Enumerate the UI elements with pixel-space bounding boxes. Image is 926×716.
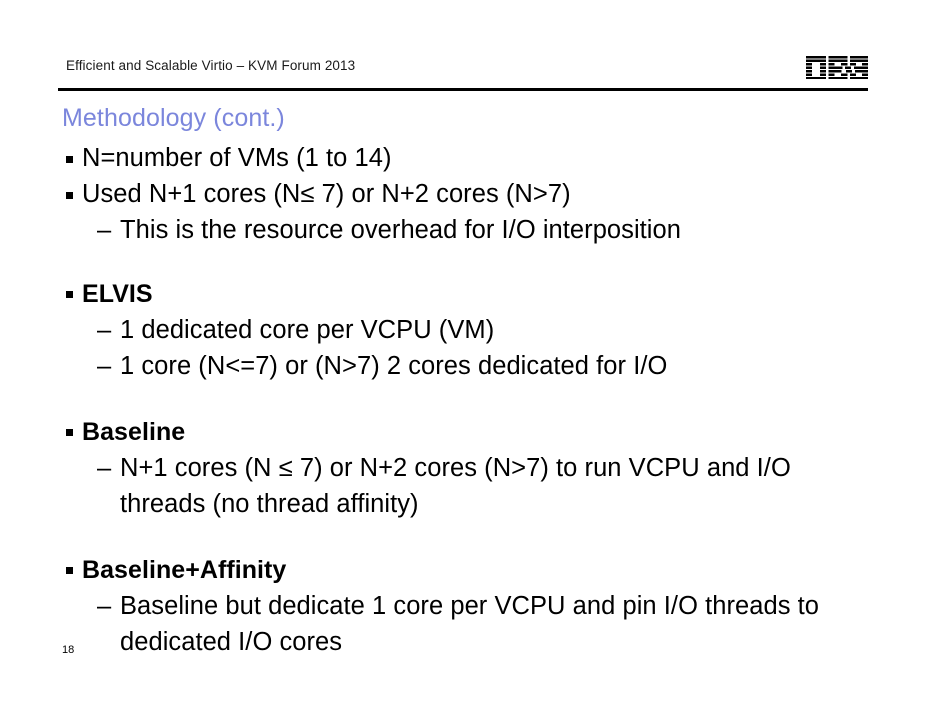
sub-bullet-text: This is the resource overhead for I/O in… bbox=[120, 216, 681, 244]
presentation-slide: Efficient and Scalable Virtio – KVM Foru… bbox=[0, 0, 926, 716]
square-bullet-icon bbox=[66, 156, 73, 163]
header-divider bbox=[58, 88, 868, 91]
sub-bullet-text: Baseline but dedicate 1 core per VCPU an… bbox=[120, 592, 819, 656]
bullet-item: Used N+1 cores (N≤ 7) or N+2 cores (N>7) bbox=[62, 176, 874, 212]
sub-bullet-item: – N+1 cores (N ≤ 7) or N+2 cores (N>7) t… bbox=[62, 450, 874, 522]
slide-page-number: 18 bbox=[62, 644, 74, 656]
spacer bbox=[62, 384, 874, 414]
square-bullet-icon bbox=[66, 291, 73, 298]
slide-body: N=number of VMs (1 to 14) Used N+1 cores… bbox=[62, 140, 874, 660]
bullet-item: N=number of VMs (1 to 14) bbox=[62, 140, 874, 176]
dash-bullet-icon: – bbox=[97, 348, 111, 384]
bullet-item-elvis: ELVIS bbox=[62, 276, 874, 312]
dash-bullet-icon: – bbox=[97, 212, 111, 248]
sub-bullet-text: 1 dedicated core per VCPU (VM) bbox=[120, 316, 494, 344]
sub-bullet-text: 1 core (N<=7) or (N>7) 2 cores dedicated… bbox=[120, 352, 667, 380]
square-bullet-icon bbox=[66, 567, 73, 574]
sub-bullet-text: N+1 cores (N ≤ 7) or N+2 cores (N>7) to … bbox=[120, 454, 791, 518]
page-title: Methodology (cont.) bbox=[62, 104, 285, 133]
header-title: Efficient and Scalable Virtio – KVM Foru… bbox=[66, 58, 355, 73]
sub-bullet-item: – Baseline but dedicate 1 core per VCPU … bbox=[62, 588, 874, 660]
square-bullet-icon bbox=[66, 429, 73, 436]
slide-header: Efficient and Scalable Virtio – KVM Foru… bbox=[58, 58, 868, 88]
bullet-text: Baseline bbox=[82, 418, 185, 446]
bullet-item-baseline-affinity: Baseline+Affinity bbox=[62, 552, 874, 588]
dash-bullet-icon: – bbox=[97, 450, 111, 486]
bullet-text: Baseline+Affinity bbox=[82, 556, 286, 584]
bullet-group-4: Baseline+Affinity – Baseline but dedicat… bbox=[62, 552, 874, 660]
bullet-group-1: N=number of VMs (1 to 14) Used N+1 cores… bbox=[62, 140, 874, 248]
sub-bullet-item: – This is the resource overhead for I/O … bbox=[62, 212, 874, 248]
bullet-text: Used N+1 cores (N≤ 7) or N+2 cores (N>7) bbox=[82, 180, 571, 208]
bullet-item-baseline: Baseline bbox=[62, 414, 874, 450]
spacer bbox=[62, 248, 874, 276]
bullet-group-2: ELVIS – 1 dedicated core per VCPU (VM) –… bbox=[62, 276, 874, 384]
dash-bullet-icon: – bbox=[97, 312, 111, 348]
bullet-text: ELVIS bbox=[82, 280, 153, 308]
bullet-text: N=number of VMs (1 to 14) bbox=[82, 144, 392, 172]
spacer bbox=[62, 522, 874, 552]
square-bullet-icon bbox=[66, 192, 73, 199]
dash-bullet-icon: – bbox=[97, 588, 111, 624]
sub-bullet-item: – 1 dedicated core per VCPU (VM) bbox=[62, 312, 874, 348]
ibm-logo-icon bbox=[806, 56, 868, 81]
bullet-group-3: Baseline – N+1 cores (N ≤ 7) or N+2 core… bbox=[62, 414, 874, 522]
sub-bullet-item: – 1 core (N<=7) or (N>7) 2 cores dedicat… bbox=[62, 348, 874, 384]
